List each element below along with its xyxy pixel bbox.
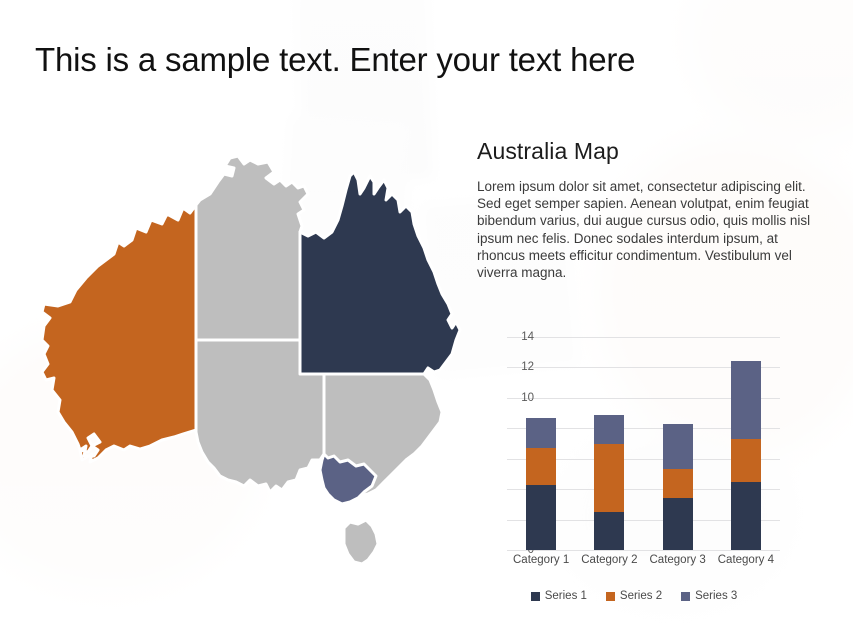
chart-bar-segment[interactable] <box>526 448 556 485</box>
chart-bar[interactable] <box>526 418 556 550</box>
map-region-queensland[interactable] <box>300 172 460 374</box>
section-heading: Australia Map <box>477 138 822 165</box>
text-column: Australia Map Lorem ipsum dolor sit amet… <box>477 138 822 281</box>
body-paragraph: Lorem ipsum dolor sit amet, consectetur … <box>477 178 812 281</box>
chart-legend: Series 1Series 2Series 3 <box>474 590 794 602</box>
chart-legend-item[interactable]: Series 1 <box>531 590 587 602</box>
chart-x-tick-label: Category 4 <box>718 554 774 566</box>
chart-bar-segment[interactable] <box>526 418 556 448</box>
chart-x-tick-label: Category 3 <box>649 554 705 566</box>
chart-legend-item[interactable]: Series 2 <box>606 590 662 602</box>
chart-bar-segment[interactable] <box>663 498 693 550</box>
chart-bar-segment[interactable] <box>731 439 761 482</box>
chart-y-tick-label: 14 <box>504 331 534 343</box>
chart-bar[interactable] <box>663 424 693 550</box>
legend-label: Series 1 <box>545 590 587 602</box>
legend-label: Series 3 <box>695 590 737 602</box>
legend-swatch-icon <box>531 592 540 601</box>
chart-bar-segment[interactable] <box>594 444 624 512</box>
australia-map[interactable] <box>28 150 473 590</box>
chart-bar-segment[interactable] <box>731 361 761 439</box>
map-region-tasmania[interactable] <box>344 520 378 564</box>
chart-bar-segment[interactable] <box>663 424 693 470</box>
chart-legend-item[interactable]: Series 3 <box>681 590 737 602</box>
chart-gridline <box>507 337 780 338</box>
chart-x-tick-label: Category 2 <box>581 554 637 566</box>
legend-label: Series 2 <box>620 590 662 602</box>
background-shape-top-right <box>690 0 853 140</box>
chart-bar[interactable] <box>731 361 761 550</box>
slide-canvas: This is a sample text. Enter your text h… <box>0 0 853 640</box>
chart-bar[interactable] <box>594 415 624 550</box>
map-region-western-australia[interactable] <box>42 205 196 462</box>
chart-y-tick-label: 10 <box>504 392 534 404</box>
chart-y-tick-label: 12 <box>504 361 534 373</box>
chart-bar-segment[interactable] <box>663 469 693 498</box>
map-region-northern-territory[interactable] <box>196 156 308 340</box>
chart-plot-area: 02468101214 Category 1Category 2Category… <box>474 326 844 576</box>
chart-bar-segment[interactable] <box>594 512 624 550</box>
chart-x-tick-label: Category 1 <box>513 554 569 566</box>
legend-swatch-icon <box>606 592 615 601</box>
chart-bar-segment[interactable] <box>526 485 556 550</box>
page-title: This is a sample text. Enter your text h… <box>35 41 635 79</box>
stacked-bar-chart[interactable]: 02468101214 Category 1Category 2Category… <box>474 326 844 616</box>
chart-bar-segment[interactable] <box>594 415 624 444</box>
legend-swatch-icon <box>681 592 690 601</box>
chart-gridline <box>507 550 780 551</box>
chart-bar-segment[interactable] <box>731 482 761 550</box>
